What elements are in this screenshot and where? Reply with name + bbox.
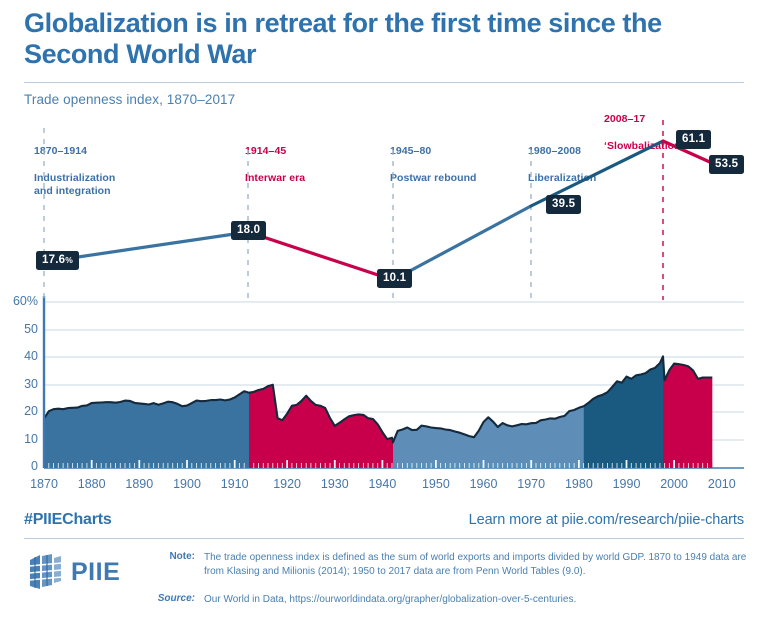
x-tick-1920: 1920 [264, 477, 310, 491]
area-band-slowbalization [663, 356, 712, 468]
x-tick-2010: 2010 [699, 477, 745, 491]
value-pill-2017: 53.5 [709, 155, 744, 174]
value-pill-1870-suffix: % [65, 255, 73, 265]
y-tick-10: 10 [4, 432, 38, 446]
note-key: Note: [154, 551, 204, 579]
x-tick-1930: 1930 [312, 477, 358, 491]
value-pill-2008: 61.1 [676, 130, 711, 149]
area-band-interwar [249, 385, 393, 468]
footer-divider [24, 538, 744, 539]
area-band-industrialization [44, 391, 249, 468]
y-tick-0: 0 [4, 459, 38, 473]
value-pill-1945: 10.1 [377, 269, 412, 288]
x-tick-1980: 1980 [556, 477, 602, 491]
x-tick-1910: 1910 [212, 477, 258, 491]
x-tick-1970: 1970 [508, 477, 554, 491]
x-tick-1880: 1880 [69, 477, 115, 491]
y-tick-40: 40 [4, 349, 38, 363]
piie-logo: PIIE [26, 551, 156, 593]
area-band-liberalization [584, 356, 663, 468]
source-text: Our World in Data, https://ourworldindat… [204, 593, 764, 607]
value-pill-1980: 39.5 [546, 195, 581, 214]
y-tick-20: 20 [4, 404, 38, 418]
x-tick-1940: 1940 [359, 477, 405, 491]
piie-logo-mark [26, 552, 64, 592]
value-pill-1870: 17.6% [36, 251, 79, 270]
x-tick-2000: 2000 [651, 477, 697, 491]
summary-seg-1914-1945 [248, 232, 393, 280]
summary-line-overlay [0, 0, 768, 300]
source-key: Source: [154, 593, 204, 607]
learn-more-link[interactable]: Learn more at piie.com/research/piie-cha… [469, 512, 744, 528]
x-tick-1870: 1870 [21, 477, 67, 491]
x-tick-1950: 1950 [413, 477, 459, 491]
y-tick-50: 50 [4, 322, 38, 336]
chart-page: Globalization is in retreat for the firs… [0, 0, 768, 626]
value-pill-1870-text: 17.6 [42, 254, 65, 266]
x-tick-1960: 1960 [461, 477, 507, 491]
hashtag-label[interactable]: #PIIECharts [24, 511, 112, 529]
era-divider-lines [44, 128, 531, 300]
x-tick-1990: 1990 [604, 477, 650, 491]
area-band-postwar [393, 406, 584, 468]
piie-logo-text: PIIE [71, 558, 120, 587]
value-pill-1914: 18.0 [231, 221, 266, 240]
summary-seg-1945-1980 [393, 206, 531, 280]
x-tick-1900: 1900 [164, 477, 210, 491]
note-text: The trade openness index is defined as t… [204, 551, 764, 579]
y-tick-30: 30 [4, 377, 38, 391]
source-row: Source: Our World in Data, https://ourwo… [154, 593, 764, 607]
x-tick-1890: 1890 [116, 477, 162, 491]
note-row: Note: The trade openness index is define… [154, 551, 764, 579]
summary-line-path [44, 141, 712, 280]
